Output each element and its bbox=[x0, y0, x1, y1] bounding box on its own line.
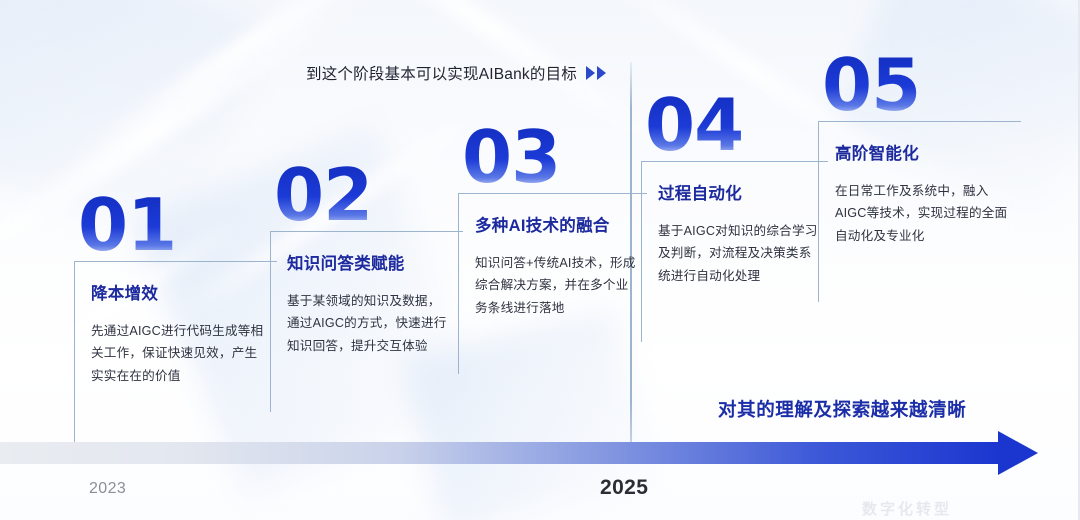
stage-title: 降本增效 bbox=[91, 280, 267, 304]
top-annotation: 到这个阶段基本可以实现AIBank的目标 bbox=[306, 62, 606, 84]
timeline-bar bbox=[0, 442, 1000, 464]
stage-description: 基于AIGC对知识的综合学习及判断，对流程及决策类系统进行自动化处理 bbox=[658, 220, 818, 287]
background-streak bbox=[60, 0, 419, 176]
stage-number: 05 bbox=[822, 56, 1021, 115]
slide-canvas: 到这个阶段基本可以实现AIBank的目标 01 降本增效 先通过AIGC进行代码… bbox=[0, 0, 1080, 520]
stage-card-05: 05 高阶智能化 在日常工作及系统中，融入AIGC等技术，实现过程的全面自动化及… bbox=[818, 56, 1021, 302]
stage-title: 高阶智能化 bbox=[835, 140, 1011, 164]
stage-card-body: 高阶智能化 在日常工作及系统中，融入AIGC等技术，实现过程的全面自动化及专业化 bbox=[818, 121, 1021, 302]
stage-card-body: 多种AI技术的融合 知识问答+传统AI技术，形成综合解决方案，并在多个业务条线进… bbox=[458, 193, 647, 374]
stage-card-04: 04 过程自动化 基于AIGC对知识的综合学习及判断，对流程及决策类系统进行自动… bbox=[641, 96, 828, 342]
stage-number: 03 bbox=[462, 128, 647, 187]
double-chevron-right-icon bbox=[586, 66, 606, 80]
stage-description: 基于某领域的知识及数据，通过AIGC的方式，快速进行知识回答，提升交互体验 bbox=[287, 290, 453, 357]
stage-card-body: 过程自动化 基于AIGC对知识的综合学习及判断，对流程及决策类系统进行自动化处理 bbox=[641, 161, 828, 342]
watermark: 数字化转型 bbox=[862, 498, 952, 519]
timeline-arrow-right-icon bbox=[998, 431, 1038, 475]
stage-title: 过程自动化 bbox=[658, 180, 818, 204]
timeline-year-2023: 2023 bbox=[89, 480, 126, 498]
top-annotation-text: 到这个阶段基本可以实现AIBank的目标 bbox=[306, 62, 577, 84]
stage-card-01: 01 降本增效 先通过AIGC进行代码生成等相关工作，保证快速见效，产生实实在在… bbox=[74, 196, 277, 442]
tagline: 对其的理解及探索越来越清晰 bbox=[718, 396, 966, 422]
stage-description: 先通过AIGC进行代码生成等相关工作，保证快速见效，产生实实在在的价值 bbox=[91, 320, 267, 387]
stage-description: 知识问答+传统AI技术，形成综合解决方案，并在多个业务条线进行落地 bbox=[475, 252, 637, 319]
timeline-arrow bbox=[0, 432, 1080, 478]
stage-title: 知识问答类赋能 bbox=[287, 250, 453, 274]
stage-number: 01 bbox=[78, 196, 277, 255]
stage-card-03: 03 多种AI技术的融合 知识问答+传统AI技术，形成综合解决方案，并在多个业务… bbox=[458, 128, 647, 374]
stage-description: 在日常工作及系统中，融入AIGC等技术，实现过程的全面自动化及专业化 bbox=[835, 180, 1011, 247]
stage-number: 04 bbox=[645, 96, 828, 155]
timeline-year-2025: 2025 bbox=[600, 476, 648, 500]
stage-card-body: 降本增效 先通过AIGC进行代码生成等相关工作，保证快速见效，产生实实在在的价值 bbox=[74, 261, 277, 442]
stage-title: 多种AI技术的融合 bbox=[475, 212, 637, 236]
stage-card-body: 知识问答类赋能 基于某领域的知识及数据，通过AIGC的方式，快速进行知识回答，提… bbox=[270, 231, 463, 412]
stage-number: 02 bbox=[274, 166, 463, 225]
stage-card-02: 02 知识问答类赋能 基于某领域的知识及数据，通过AIGC的方式，快速进行知识回… bbox=[270, 166, 463, 412]
